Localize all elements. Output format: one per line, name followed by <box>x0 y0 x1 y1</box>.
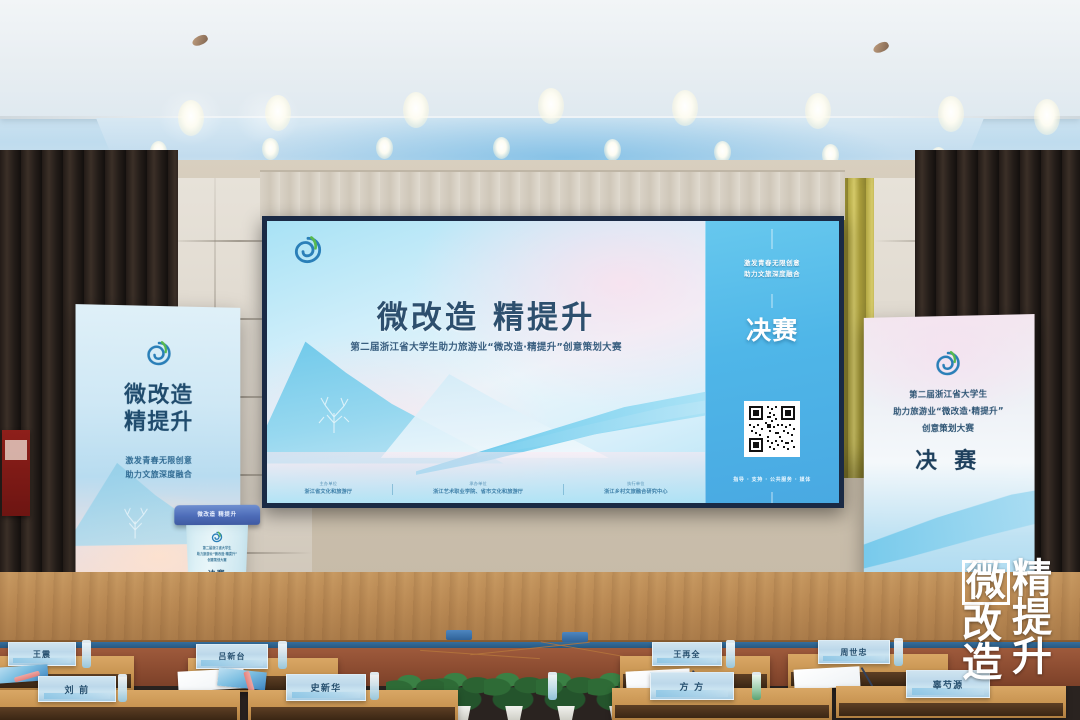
podium-band-text: 微改造 精提升 <box>174 510 260 518</box>
watermark-char-zao: 造 <box>962 644 1010 683</box>
coral-branch-icon <box>311 393 357 433</box>
ceiling-downlight <box>672 90 698 126</box>
credit-name: 浙江艺术职业学院、省市文化和旅游厅 <box>433 488 523 495</box>
screen-bottom-band <box>267 452 705 503</box>
nameplate: 方 方 <box>650 672 734 700</box>
screen-side-panel: 激发青春无限创意 助力文旅深度融合 决赛 <box>705 221 839 503</box>
stage-floor <box>0 572 1080 646</box>
desk-shelf <box>615 705 829 718</box>
screen-credits: 主办单位 浙江省文化和旅游厅 承办单位 浙江艺术职业学院、省市文化和旅游厅 执行… <box>285 481 688 495</box>
audience-desk-row-front: 刘 前 史新华 方 方 辜芍源 <box>0 688 1080 720</box>
screen-subtitle: 第二届浙江省大学生助力旅游业“微改造·精提升”创意策划大赛 <box>267 339 705 353</box>
nameplate-label: 辜芍源 <box>933 678 964 691</box>
nameplate: 王震 <box>8 642 76 666</box>
podium-line3: 创意策划大赛 <box>207 558 226 562</box>
ceiling-downlight <box>178 100 204 136</box>
ceiling-downlight <box>265 95 291 131</box>
screen-main-area: 微改造 精提升 第二届浙江省大学生助力旅游业“微改造·精提升”创意策划大赛 主办… <box>267 221 705 503</box>
screen-side-slogan: 激发青春无限创意 助力文旅深度融合 <box>705 258 839 281</box>
ceiling-downlight <box>403 92 429 128</box>
side-tick-top <box>772 229 773 249</box>
banner-left-title-line2: 精提升 <box>124 409 193 434</box>
banner-right-line2: 助力旅游业“微改造·精提升” <box>893 406 1004 417</box>
banner-right-line1: 第二届浙江省大学生 <box>909 389 987 400</box>
watermark-column-1: 微 改 造 <box>962 560 1010 718</box>
nameplate-label: 方 方 <box>680 680 705 693</box>
screen-stage-label: 决赛 <box>705 317 839 345</box>
credit-group-label: 主办单位 <box>305 481 353 487</box>
photo-scene: 微改造 精提升 第二届浙江省大学生助力旅游业“微改造·精提升”创意策划大赛 主办… <box>0 0 1080 720</box>
credit-divider <box>392 484 393 495</box>
ceiling-downlight <box>1034 99 1060 135</box>
ceiling-downlight <box>805 93 831 129</box>
wireless-mic-receiver <box>446 630 472 640</box>
watermark-column-2: 精 提 升 <box>1012 560 1052 718</box>
credit-host: 承办单位 浙江艺术职业学院、省市文化和旅游厅 <box>433 481 523 495</box>
nameplate: 周世忠 <box>818 640 890 664</box>
water-bottle <box>278 641 287 669</box>
watermark-char-gai: 改 <box>962 605 1010 644</box>
ceiling-downlight <box>493 137 510 159</box>
watermark: 微 改 造 精 提 升 <box>962 560 1074 718</box>
watermark-char-sheng: 升 <box>1012 638 1052 677</box>
banner-left-title: 微改造 精提升 <box>76 382 241 437</box>
wave-swirl-logo <box>211 531 224 543</box>
screen-side-footer: 指导 · 支持 · 公共服务 · 媒体 <box>705 476 839 483</box>
podium-line1: 第二届浙江省大学生 <box>203 546 232 550</box>
banner-right-line3: 创意策划大赛 <box>922 424 974 434</box>
water-bottle <box>118 674 127 702</box>
nameplate: 史新华 <box>286 674 366 701</box>
wave-swirl-logo <box>291 235 325 265</box>
screen-mountain-near <box>381 365 609 458</box>
watermark-char-ti: 提 <box>1012 599 1052 638</box>
podium-text-lines: 第二届浙江省大学生 助力旅游业“微改造·精提升” 创意策划大赛 <box>186 546 248 564</box>
water-bottle <box>82 640 91 668</box>
credit-executor: 执行单位 浙江乡村文旅融合研究中心 <box>604 481 668 495</box>
water-bottle <box>726 640 735 668</box>
wave-swirl-logo <box>933 350 963 377</box>
ceiling-downlight <box>376 137 393 159</box>
extinguisher-label <box>5 440 27 460</box>
watermark-char-jing: 精 <box>1012 560 1052 599</box>
banner-left-slogan: 激发青春无限创意 助力文旅深度融合 <box>76 454 241 484</box>
nameplate: 刘 前 <box>38 676 116 702</box>
water-bottle <box>752 672 761 700</box>
wave-swirl-logo <box>144 340 174 367</box>
standing-banner-right: 第二届浙江省大学生 助力旅游业“微改造·精提升” 创意策划大赛 决 赛 <box>864 314 1035 600</box>
credit-name: 浙江省文化和旅游厅 <box>305 488 353 495</box>
nameplate: 王再全 <box>652 642 722 666</box>
nameplate-label: 王震 <box>33 649 51 660</box>
ceiling-downlight <box>538 88 564 124</box>
led-screen[interactable]: 微改造 精提升 第二届浙江省大学生助力旅游业“微改造·精提升”创意策划大赛 主办… <box>267 221 839 503</box>
banner-right-stage-label: 决 赛 <box>864 443 1035 475</box>
screen-title: 微改造 精提升 <box>267 292 705 337</box>
water-bottle <box>894 638 903 666</box>
nameplate-label: 王再全 <box>673 649 700 660</box>
acoustic-panel-strip <box>260 170 845 220</box>
desk-shelf <box>0 707 237 720</box>
credit-name: 浙江乡村文旅融合研究中心 <box>604 488 668 495</box>
wireless-mic-receiver <box>562 632 588 642</box>
watermark-char-wei: 微 <box>962 560 1010 605</box>
side-tick-bottom <box>772 492 773 503</box>
credit-organizer: 主办单位 浙江省文化和旅游厅 <box>305 481 353 495</box>
banner-left-slogan-line1: 激发青春无限创意 <box>125 456 192 465</box>
ceiling-downlight <box>262 138 279 160</box>
desk-shelf <box>251 707 455 720</box>
nameplate-label: 周世忠 <box>840 647 867 658</box>
qr-code[interactable] <box>744 401 800 457</box>
banner-left-title-line1: 微改造 <box>124 382 193 408</box>
credit-group-label: 执行单位 <box>604 481 668 487</box>
side-tick-mid <box>772 294 773 308</box>
nameplate-label: 刘 前 <box>65 683 90 696</box>
podium-top-band: 微改造 精提升 <box>174 505 260 525</box>
credit-group-label: 承办单位 <box>433 481 523 487</box>
ceiling-downlight <box>604 139 621 161</box>
credit-divider <box>563 484 564 495</box>
slogan-line-2: 助力文旅深度融合 <box>744 270 800 278</box>
banner-right-heading: 第二届浙江省大学生 助力旅游业“微改造·精提升” 创意策划大赛 <box>877 386 1020 439</box>
fire-extinguisher-box <box>2 430 30 516</box>
banner-left-slogan-line2: 助力文旅深度融合 <box>125 470 192 479</box>
nameplate-label: 吕新台 <box>218 651 245 662</box>
coral-branch-icon <box>116 505 154 540</box>
water-bottle <box>548 672 557 700</box>
nameplate-label: 史新华 <box>311 681 342 694</box>
slogan-line-1: 激发青春无限创意 <box>744 259 800 267</box>
podium-line2: 助力旅游业“微改造·精提升” <box>197 552 237 556</box>
nameplate: 吕新台 <box>196 644 268 669</box>
ceiling-downlight <box>938 96 964 132</box>
water-bottle <box>370 672 379 700</box>
led-screen-frame: 微改造 精提升 第二届浙江省大学生助力旅游业“微改造·精提升”创意策划大赛 主办… <box>262 216 844 508</box>
